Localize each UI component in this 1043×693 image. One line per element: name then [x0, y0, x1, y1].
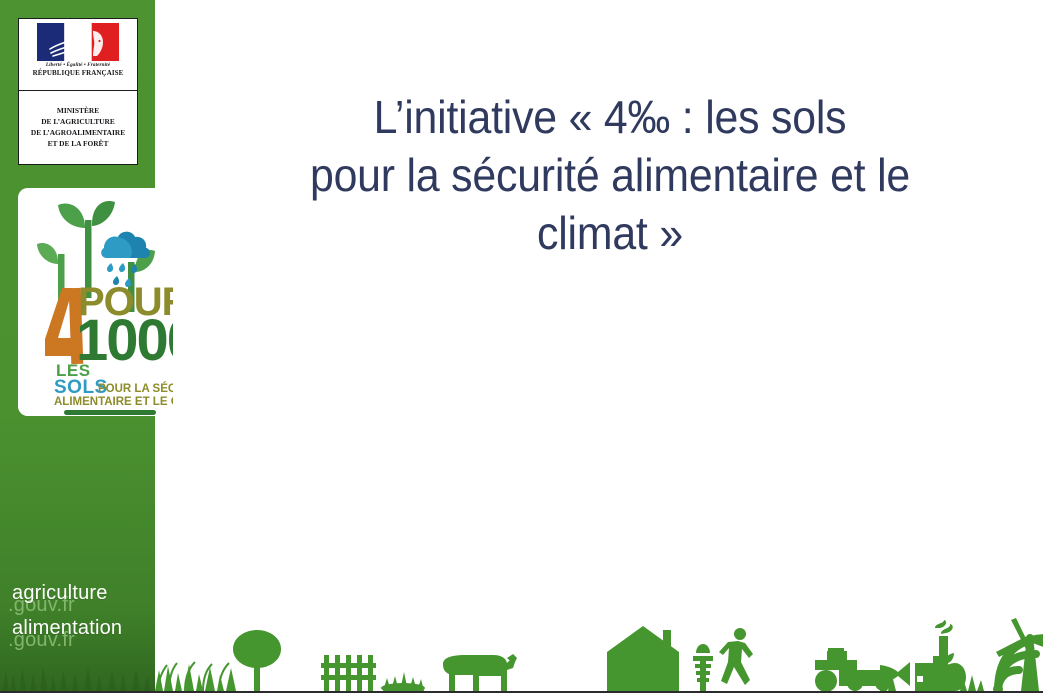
apple-icon	[924, 651, 966, 691]
site-agriculture-name: agriculture	[12, 583, 108, 603]
fence-icon	[321, 655, 376, 691]
ministry-name-block: MINISTÈRE DE L’AGRICULTURE DE L’AGROALIM…	[19, 91, 137, 164]
logo-underline-bar	[64, 410, 156, 415]
walking-person-icon	[719, 628, 753, 685]
site-agriculture: .gouv.fr agriculture	[8, 583, 158, 618]
page-title: L’initiative « 4‰ : les sols pour la séc…	[219, 88, 1000, 262]
french-flag-marianne-icon	[37, 23, 119, 61]
fish-icon	[880, 662, 910, 686]
ministry-line-2: DE L’AGRICULTURE	[41, 117, 115, 127]
bottom-silhouette-band-right	[880, 618, 1043, 691]
ministry-line-3: DE L’AGROALIMENTAIRE	[31, 128, 125, 138]
cow-icon	[443, 654, 517, 691]
presentation-slide: Liberté • Égalité • Fraternité RÉPUBLIQU…	[0, 0, 1043, 693]
house-icon	[607, 626, 679, 691]
grass-icon	[155, 662, 236, 691]
site-alimentation-name: alimentation	[12, 618, 122, 638]
ministry-logo-card: Liberté • Égalité • Fraternité RÉPUBLIQU…	[18, 18, 138, 165]
plant-icon	[693, 644, 713, 691]
tagline-line-2: ALIMENTAIRE ET LE CLIMAT	[54, 396, 173, 408]
tagline-line-1: POUR LA SÉCURITÉ	[98, 382, 173, 395]
page-title-line-1: L’initiative « 4‰ : les sols	[219, 88, 1000, 146]
bush-icon	[381, 672, 425, 691]
page-title-line-2: pour la sécurité alimentaire et le	[219, 146, 1000, 204]
republic-name: RÉPUBLIQUE FRANÇAISE	[33, 69, 124, 77]
sidebar-grass-icon	[0, 647, 155, 693]
page-title-line-3: climat »	[219, 204, 1000, 262]
four-per-1000-logo: POUR 1000 LES SOLS POUR LA SÉCURITÉ ALIM…	[18, 188, 173, 416]
footer-site-links: .gouv.fr agriculture .gouv.fr alimentati…	[8, 583, 158, 653]
tree-icon	[233, 630, 281, 691]
ministry-line-1: MINISTÈRE	[57, 106, 99, 116]
republic-block: Liberté • Égalité • Fraternité RÉPUBLIQU…	[19, 19, 137, 91]
republic-motto: Liberté • Égalité • Fraternité	[46, 62, 110, 68]
site-alimentation: .gouv.fr alimentation	[8, 618, 158, 653]
wifi-signal-icon	[998, 638, 1043, 691]
ministry-line-4: ET DE LA FORÊT	[48, 139, 109, 149]
